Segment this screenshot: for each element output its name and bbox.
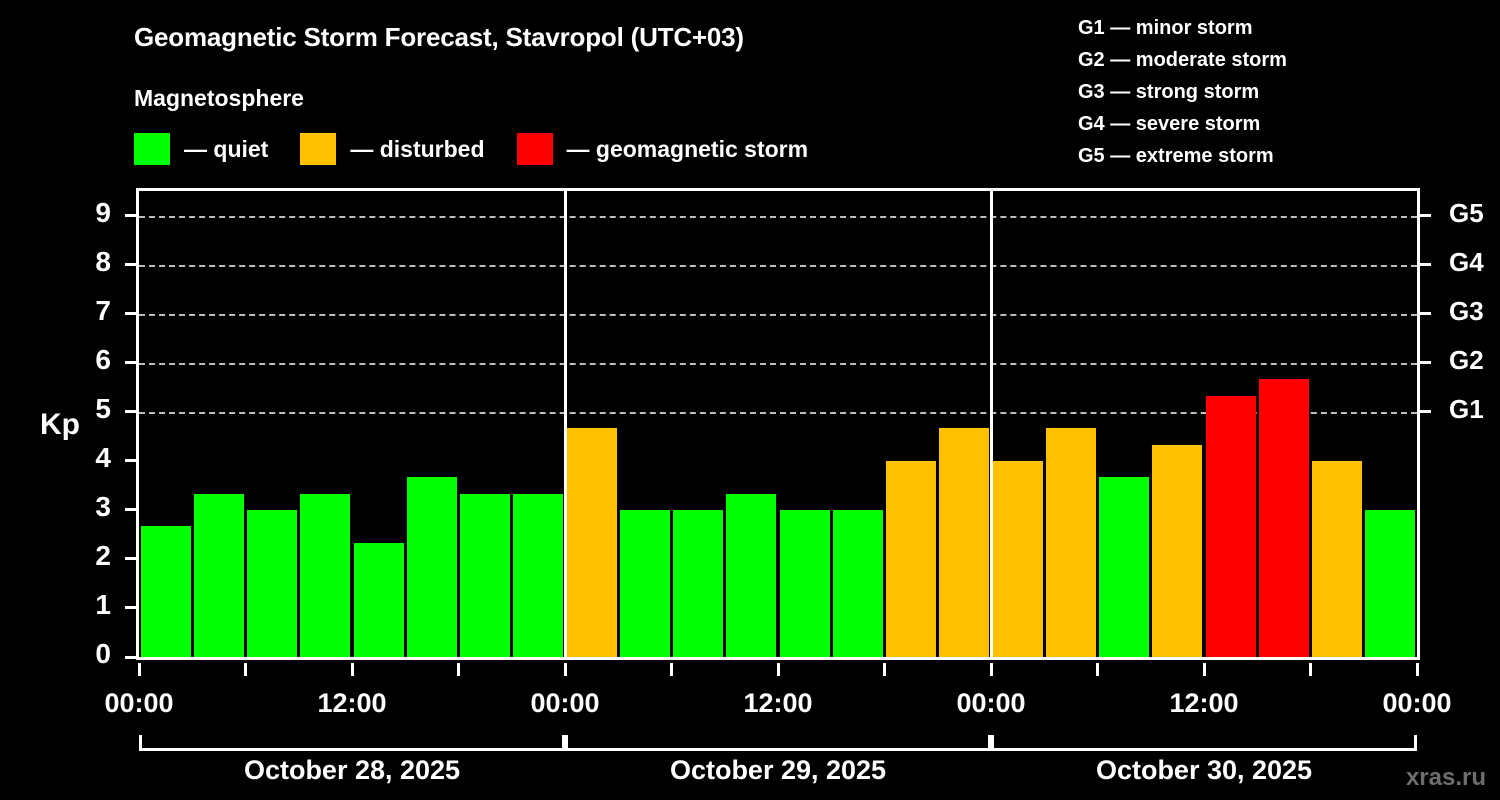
bar — [993, 461, 1043, 657]
bar — [1046, 428, 1096, 657]
y-axis-tick — [125, 508, 136, 511]
x-axis-tick — [1203, 663, 1206, 676]
x-axis-label: 12:00 — [287, 688, 417, 719]
x-axis-tick — [351, 663, 354, 676]
y-axis-label: 2 — [51, 540, 111, 572]
y-axis-label: 9 — [51, 197, 111, 229]
bar — [1312, 461, 1362, 657]
bar — [567, 428, 617, 657]
day-separator — [564, 191, 567, 657]
y-axis-label: 6 — [51, 344, 111, 376]
date-bracket — [139, 735, 565, 751]
x-axis-tick — [670, 663, 673, 676]
red-swatch — [517, 133, 553, 165]
date-label: October 30, 2025 — [991, 755, 1417, 786]
x-axis-label: 00:00 — [74, 688, 204, 719]
bar — [513, 494, 563, 657]
y-axis-tick — [125, 361, 136, 364]
legend-item-label: — quiet — [184, 136, 268, 163]
plot-area — [136, 188, 1420, 660]
gridline — [139, 216, 1417, 218]
g-axis-label: G1 — [1449, 394, 1484, 425]
g-scale-row: G5 — extreme storm — [1078, 140, 1287, 172]
y-axis-tick — [125, 606, 136, 609]
x-axis-label: 00:00 — [926, 688, 1056, 719]
bar — [1206, 396, 1256, 657]
date-label: October 29, 2025 — [565, 755, 991, 786]
bar — [726, 494, 776, 657]
page-title: Geomagnetic Storm Forecast, Stavropol (U… — [134, 22, 744, 53]
g-axis-tick — [1420, 214, 1431, 217]
bar — [1365, 510, 1415, 657]
x-axis-tick — [138, 663, 141, 676]
y-axis-label: 0 — [51, 638, 111, 670]
bar — [620, 510, 670, 657]
y-axis-tick — [125, 263, 136, 266]
date-bracket — [565, 735, 991, 751]
watermark: xras.ru — [1406, 764, 1486, 792]
bar — [780, 510, 830, 657]
gridline — [139, 363, 1417, 365]
bar — [833, 510, 883, 657]
y-axis-label: 8 — [51, 246, 111, 278]
g-axis-tick — [1420, 263, 1431, 266]
day-separator — [990, 191, 993, 657]
x-axis-tick — [457, 663, 460, 676]
bar — [460, 494, 510, 657]
x-axis-label: 12:00 — [713, 688, 843, 719]
g-axis-label: G3 — [1449, 296, 1484, 327]
green-swatch — [134, 133, 170, 165]
orange-swatch — [300, 133, 336, 165]
x-axis-label: 00:00 — [1352, 688, 1482, 719]
g-scale-row: G1 — minor storm — [1078, 12, 1287, 44]
y-axis-label: 7 — [51, 295, 111, 327]
g-axis-tick — [1420, 361, 1431, 364]
legend-item-label: — disturbed — [350, 136, 484, 163]
legend-item-label: — geomagnetic storm — [567, 136, 809, 163]
bar — [354, 543, 404, 657]
x-axis-label: 12:00 — [1139, 688, 1269, 719]
y-axis-tick — [125, 656, 136, 659]
g-scale-row: G4 — severe storm — [1078, 108, 1287, 140]
bar — [141, 526, 191, 657]
bar — [300, 494, 350, 657]
bar — [939, 428, 989, 657]
legend-item: — disturbed — [300, 133, 484, 165]
gridline — [139, 265, 1417, 267]
y-axis-label: 5 — [51, 393, 111, 425]
g-scale-row: G3 — strong storm — [1078, 76, 1287, 108]
legend: — quiet— disturbed— geomagnetic storm — [134, 133, 840, 165]
y-axis-tick — [125, 459, 136, 462]
x-axis-tick — [1416, 663, 1419, 676]
g-scale-row: G2 — moderate storm — [1078, 44, 1287, 76]
bar — [1099, 477, 1149, 657]
bar — [247, 510, 297, 657]
x-axis-tick — [244, 663, 247, 676]
g-axis-label: G4 — [1449, 247, 1484, 278]
plot-inner — [139, 191, 1417, 657]
x-axis-tick — [883, 663, 886, 676]
x-axis-tick — [990, 663, 993, 676]
y-axis-label: 4 — [51, 442, 111, 474]
bar — [194, 494, 244, 657]
date-label: October 28, 2025 — [139, 755, 565, 786]
g-scale-legend: G1 — minor stormG2 — moderate stormG3 — … — [1078, 12, 1287, 172]
bar — [1152, 445, 1202, 657]
date-bracket — [991, 735, 1417, 751]
y-axis-tick — [125, 410, 136, 413]
y-axis-tick — [125, 312, 136, 315]
g-axis-tick — [1420, 410, 1431, 413]
y-axis-tick — [125, 557, 136, 560]
x-axis-tick — [564, 663, 567, 676]
g-axis-label: G5 — [1449, 198, 1484, 229]
x-axis-label: 00:00 — [500, 688, 630, 719]
legend-item: — quiet — [134, 133, 268, 165]
g-axis-tick — [1420, 312, 1431, 315]
x-axis-tick — [1096, 663, 1099, 676]
y-axis-label: 1 — [51, 589, 111, 621]
x-axis-tick — [1309, 663, 1312, 676]
y-axis-label: 3 — [51, 491, 111, 523]
y-axis-tick — [125, 214, 136, 217]
magnetosphere-label: Magnetosphere — [134, 85, 304, 112]
legend-item: — geomagnetic storm — [517, 133, 809, 165]
g-axis-label: G2 — [1449, 345, 1484, 376]
bar — [886, 461, 936, 657]
bar — [407, 477, 457, 657]
bar — [673, 510, 723, 657]
gridline — [139, 314, 1417, 316]
bar — [1259, 379, 1309, 657]
x-axis-tick — [777, 663, 780, 676]
